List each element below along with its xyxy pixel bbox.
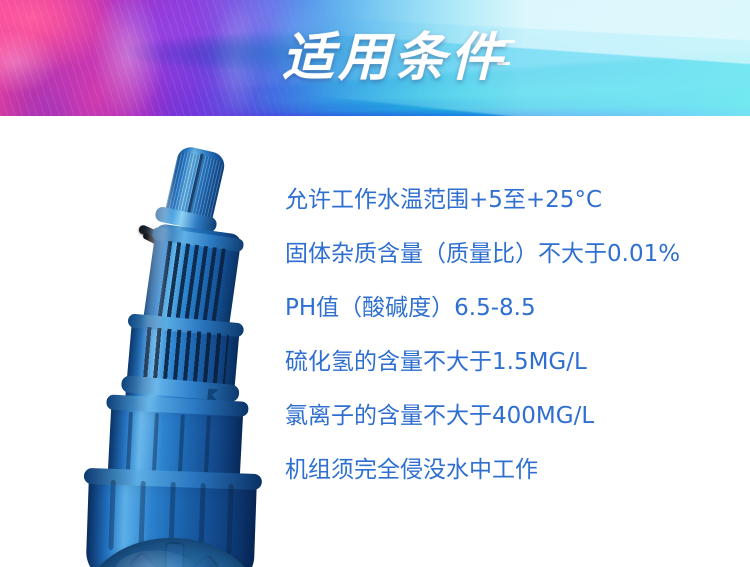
- spec-line-submersion: 机组须完全侵没水中工作: [285, 459, 725, 482]
- content-area: 允许工作水温范围+5至+25°C 固体杂质含量（质量比）不大于0.01% PH值…: [0, 116, 750, 567]
- pump-bell-flute: [226, 484, 233, 554]
- spec-line-solid-impurity: 固体杂质含量（质量比）不大于0.01%: [285, 243, 725, 266]
- spec-line-hydrogen-sulfide: 硫化氢的含量不大于1.5MG/L: [285, 351, 725, 374]
- banner-title: 适用条件: [0, 0, 750, 116]
- pump-illustration: [45, 146, 295, 566]
- spec-line-chloride-ion: 氯离子的含量不大于400MG/L: [285, 405, 725, 428]
- spec-list: 允许工作水温范围+5至+25°C 固体杂质含量（质量比）不大于0.01% PH值…: [285, 189, 725, 482]
- product-spec-page: 适用条件: [0, 0, 750, 567]
- spec-line-water-temperature: 允许工作水温范围+5至+25°C: [285, 189, 725, 212]
- pump-face-highlight: [113, 549, 199, 567]
- pump-bell-flute: [108, 480, 115, 550]
- product-image-pump: [45, 146, 295, 566]
- page-banner: 适用条件: [0, 0, 750, 116]
- banner-title-text: 适用条件: [282, 32, 506, 84]
- spec-line-ph-value: PH值（酸碱度）6.5-8.5: [285, 297, 725, 320]
